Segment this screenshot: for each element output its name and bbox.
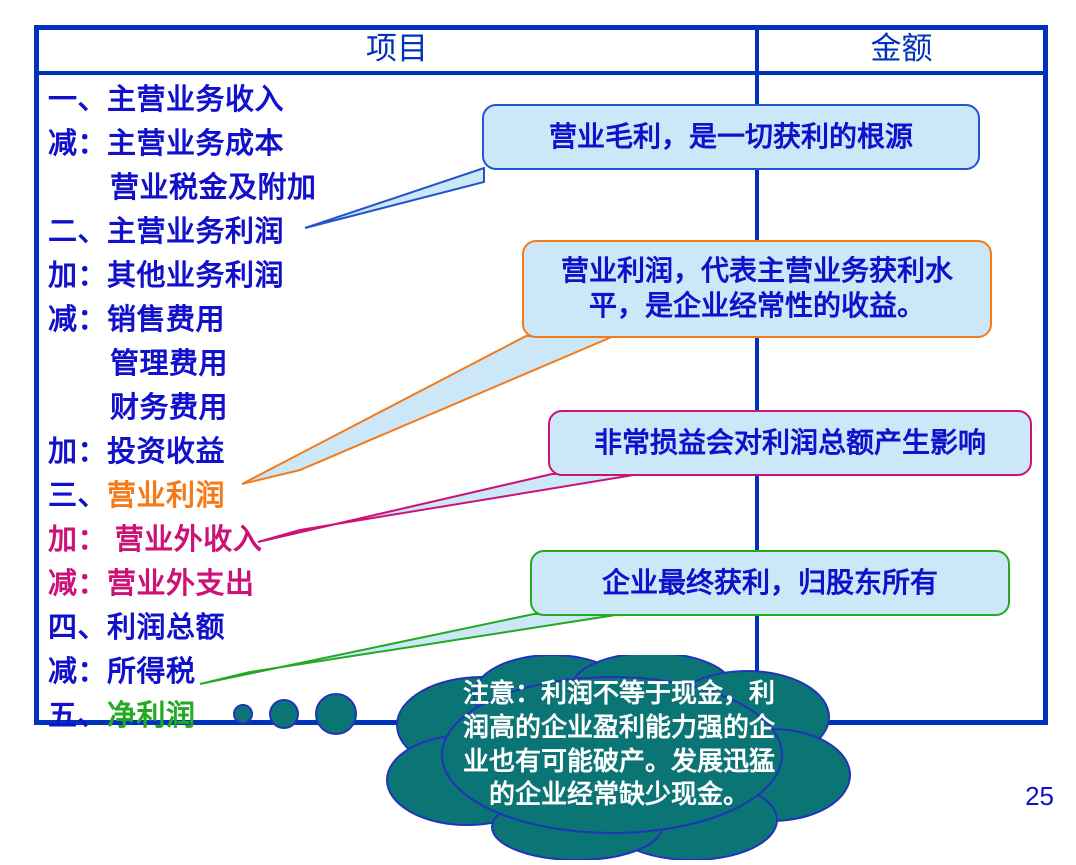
cloud-callout-text: 注意：利润不等于现金，利润高的企业盈利能力强的企业也有可能破产。发展迅猛的企业经… xyxy=(454,677,784,812)
page-number: 25 xyxy=(1025,781,1054,812)
cloud-callout[interactable]: 注意：利润不等于现金，利润高的企业盈利能力强的企业也有可能破产。发展迅猛的企业经… xyxy=(362,655,862,860)
